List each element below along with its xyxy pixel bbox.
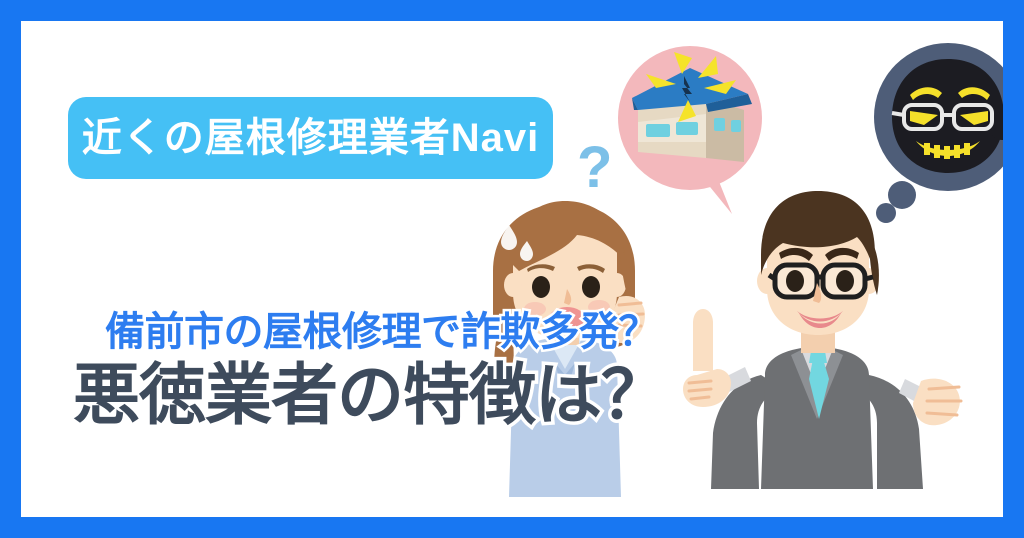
site-name-badge[interactable]: 近くの屋根修理業者Navi (68, 97, 553, 179)
open-palm-hand (913, 379, 961, 426)
worried-woman-character (469, 197, 679, 497)
content-stage: 近くの屋根修理業者Navi ? (21, 21, 1003, 517)
question-mark-icon: ? (577, 139, 612, 197)
pointing-hand (683, 309, 731, 407)
damaged-house-speech-bubble (612, 46, 772, 206)
explaining-businessman-character (673, 189, 963, 499)
villain-face-icon (892, 59, 1003, 173)
thumbnail-canvas: 近くの屋根修理業者Navi ? (0, 0, 1024, 538)
badge-label: 近くの屋根修理業者Navi (82, 118, 540, 158)
